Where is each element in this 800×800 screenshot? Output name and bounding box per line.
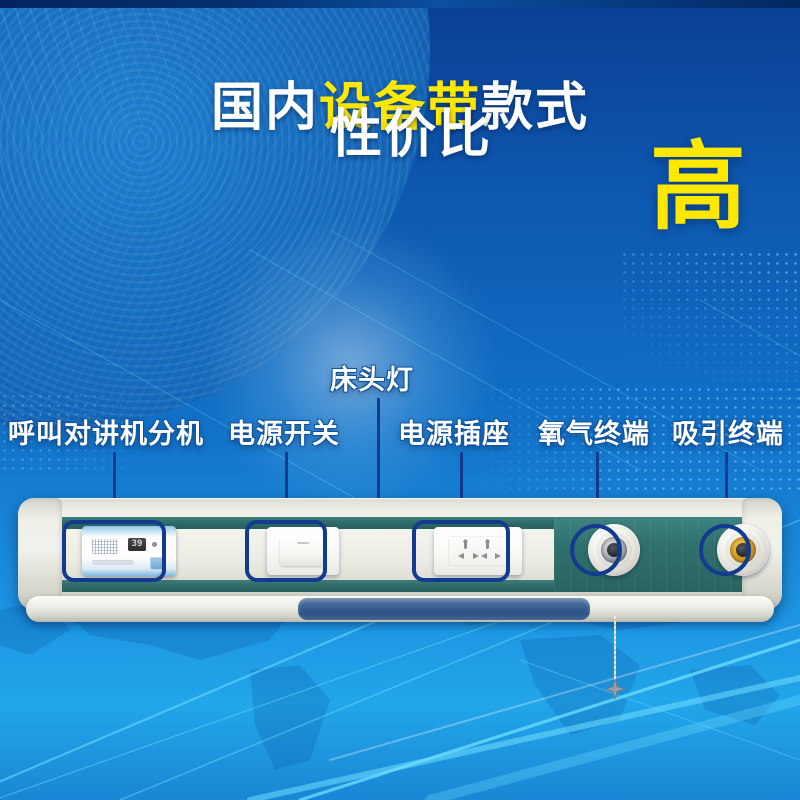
highlight-circle-suction [699, 524, 751, 576]
highlight-box-intercom [62, 520, 166, 582]
callout-label-bed-lamp: 床头灯 [330, 358, 414, 397]
highlight-box-power-switch [245, 520, 327, 582]
headline-part-1: 国内 [211, 79, 319, 137]
callout-label-power-switch: 电源开关 [228, 412, 340, 451]
headline-big-word: 高 [650, 140, 746, 236]
callout-label-suction-terminal: 吸引终端 [672, 412, 784, 451]
poster-canvas: 国内设备带款式 性价比 高 呼叫对讲机分机 电源开关 床头灯 电源插座 氧气终端… [0, 0, 800, 800]
highlight-circle-oxygen [570, 524, 622, 576]
headline-part-2: 款式 [481, 79, 589, 137]
suction-pull-cord[interactable] [614, 616, 616, 682]
cord-tip-icon [604, 678, 626, 700]
callout-label-oxygen-terminal: 氧气终端 [538, 412, 650, 451]
unit-end-cap-left [18, 498, 62, 610]
highlight-box-power-socket [412, 520, 510, 582]
callout-label-power-socket: 电源插座 [398, 412, 510, 451]
callout-label-intercom: 呼叫对讲机分机 [8, 412, 204, 451]
top-accent-bar [0, 0, 800, 8]
headline-line-2: 性价比 [330, 92, 492, 167]
bed-lamp-diffuser [298, 598, 590, 620]
